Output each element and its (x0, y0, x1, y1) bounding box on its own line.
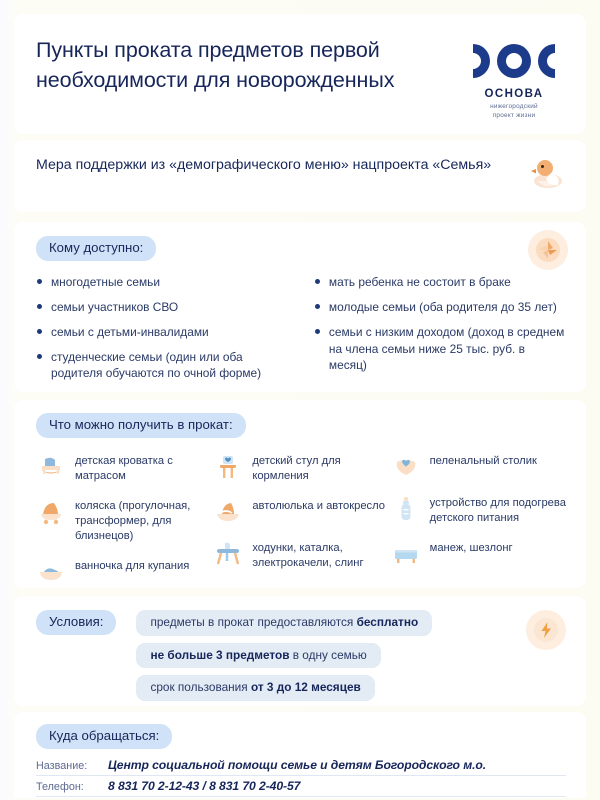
list-item: семьи с детьми-инвалидами (36, 324, 296, 341)
item-label: коляска (прогулочная, трансформер, для б… (75, 497, 213, 545)
eligibility-column-right: мать ребенка не состоит в браке молодые … (306, 274, 566, 391)
measure-card: Мера поддержки из «демографического меню… (14, 140, 586, 212)
items-grid: детская кроватка с матрасом коляска (про… (36, 452, 568, 599)
lightning-bolt-icon (526, 610, 566, 650)
item-label: ходунки, каталка, электрокачели, слинг (252, 539, 390, 572)
playpen-icon (391, 539, 421, 569)
item-label: детская кроватка с матрасом (75, 452, 213, 485)
contacts-card: Куда обращаться: Название: Центр социаль… (14, 712, 586, 798)
list-item: устройство для подогрева детского питани… (391, 494, 568, 527)
pinwheel-icon (528, 230, 568, 270)
items-column-3: пеленальный столик устройство для подогр… (391, 452, 568, 599)
conditions-list: предметы в прокат предоставляются беспла… (136, 610, 568, 708)
duck-icon (528, 152, 568, 192)
poster-root: Пункты проката предметов первой необходи… (0, 0, 600, 800)
contact-value-phone: 8 831 70 2-12-43 / 8 831 70 2-40-57 (108, 779, 300, 793)
list-item: манеж, шезлонг (391, 539, 568, 569)
logo-tagline: нижегородский проект жизни (462, 102, 566, 120)
eligibility-list-right: мать ребенка не состоит в браке молодые … (314, 274, 566, 375)
table-row: Название: Центр социальной помощи семье … (36, 755, 566, 776)
list-item: мать ребенка не состоит в браке (314, 274, 566, 291)
item-label: пеленальный столик (430, 452, 537, 469)
baby-bath-icon (36, 557, 66, 587)
items-column-2: детский стул для кормления автолюлька и … (213, 452, 390, 599)
list-item: пеленальный столик (391, 452, 568, 482)
stroller-icon (36, 497, 66, 527)
list-item: детский стул для кормления (213, 452, 390, 485)
condition-text-bold: не больше 3 предметов (150, 648, 289, 662)
item-label: детский стул для кормления (252, 452, 390, 485)
eligibility-heading: Кому доступно: (36, 236, 156, 261)
items-heading: Что можно получить в прокат: (36, 413, 246, 438)
baby-walker-icon (213, 539, 243, 569)
osnova-logo-icon (462, 42, 566, 85)
measure-text: Мера поддержки из «демографического меню… (36, 155, 506, 176)
condition-text-plain-before: предметы в прокат предоставляются (150, 615, 356, 629)
list-item: молодые семьи (оба родителя до 35 лет) (314, 299, 566, 316)
list-item: многодетные семьи (36, 274, 296, 291)
list-item: ванночка для купания (36, 557, 213, 587)
baby-crib-icon (36, 452, 66, 482)
item-label: ванночка для купания (75, 557, 189, 574)
items-card: Что можно получить в прокат: детская (14, 400, 586, 588)
item-label: устройство для подогрева детского питани… (430, 494, 568, 527)
item-label: автолюлька и автокресло (252, 497, 385, 514)
page-title: Пункты проката предметов первой необходи… (36, 36, 436, 95)
eligibility-columns: многодетные семьи семьи участников СВО с… (36, 274, 566, 391)
list-item: детская кроватка с матрасом (36, 452, 213, 485)
item-label: манеж, шезлонг (430, 539, 513, 556)
list-item: студенческие семьи (один или оба родител… (36, 349, 296, 383)
changing-table-icon (391, 452, 421, 482)
items-column-1: детская кроватка с матрасом коляска (про… (36, 452, 213, 599)
conditions-heading: Условия: (36, 610, 116, 635)
logo-tagline-line2: проект жизни (493, 112, 536, 119)
high-chair-icon (213, 452, 243, 482)
eligibility-list-left: многодетные семьи семьи участников СВО с… (36, 274, 296, 383)
contact-label-name: Название: (36, 760, 108, 772)
bottle-warmer-icon (391, 494, 421, 524)
condition-chip-1: предметы в прокат предоставляются беспла… (136, 610, 432, 636)
eligibility-column-left: многодетные семьи семьи участников СВО с… (36, 274, 296, 391)
car-seat-icon (213, 497, 243, 527)
eligibility-card: Кому доступно: многодетные семьи семьи у… (14, 222, 586, 392)
list-item: коляска (прогулочная, трансформер, для б… (36, 497, 213, 545)
table-row: Телефон: 8 831 70 2-12-43 / 8 831 70 2-4… (36, 776, 566, 797)
header-card: Пункты проката предметов первой необходи… (14, 14, 586, 134)
list-item: семьи участников СВО (36, 299, 296, 316)
condition-chip-2: не больше 3 предметов в одну семью (136, 643, 380, 669)
condition-text-bold: бесплатно (357, 615, 419, 629)
logo-wordmark: ОСНОВА (462, 88, 566, 100)
list-item: автолюлька и автокресло (213, 497, 390, 527)
list-item: ходунки, каталка, электрокачели, слинг (213, 539, 390, 572)
logo-tagline-line1: нижегородский (490, 103, 538, 110)
condition-text-plain-before: срок пользования (150, 680, 250, 694)
list-item: семьи с низким доходом (доход в среднем … (314, 324, 566, 375)
condition-text-bold: от 3 до 12 месяцев (251, 680, 361, 694)
contact-label-phone: Телефон: (36, 781, 108, 793)
conditions-card: Условия: предметы в прокат предоставляют… (14, 596, 586, 706)
condition-text-plain-after: в одну семью (289, 648, 366, 662)
contact-value-name: Центр социальной помощи семье и детям Бо… (108, 758, 486, 772)
brand-logo: ОСНОВА нижегородский проект жизни (462, 36, 566, 120)
condition-chip-3: срок пользования от 3 до 12 месяцев (136, 675, 374, 701)
contacts-heading: Куда обращаться: (36, 724, 172, 749)
